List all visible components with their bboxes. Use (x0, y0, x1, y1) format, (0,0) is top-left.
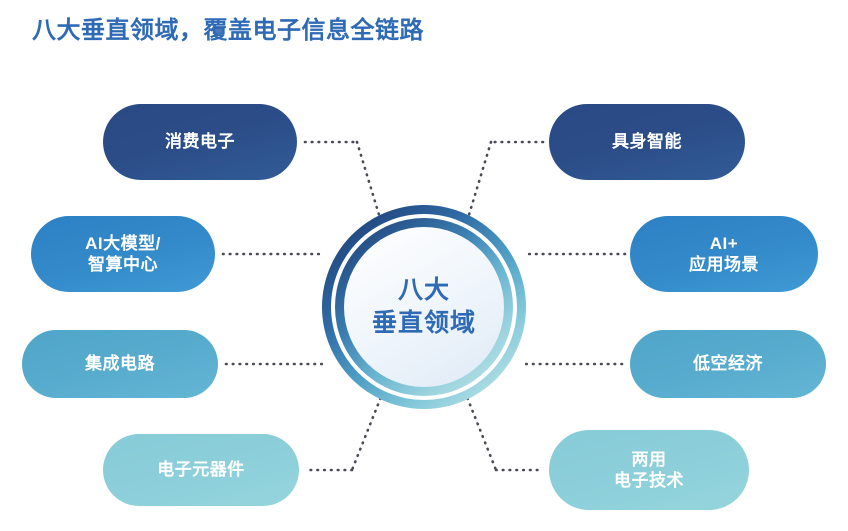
hub-label-line2: 垂直领域 (372, 309, 476, 338)
node-label-line1: 低空经济 (693, 353, 763, 374)
node-label-line1: 两用 (632, 449, 667, 470)
node-label-line2: 智算中心 (88, 254, 158, 275)
hub-circle: 八大 垂直领域 (322, 205, 526, 409)
node-label-line1: AI大模型/ (85, 233, 161, 254)
diagram-canvas: 八大垂直领域，覆盖电子信息全链路 八大 垂直领域 消费电子 (0, 0, 848, 531)
node-label-line2: 电子技术 (614, 470, 684, 491)
node-integrated-circuits[interactable]: 集成电路 (22, 330, 218, 398)
hub-label-line1: 八大 (398, 276, 450, 305)
node-label-line1: 电子元器件 (157, 459, 245, 480)
node-electronic-components[interactable]: 电子元器件 (103, 434, 299, 506)
node-label-line1: AI+ (710, 233, 738, 254)
node-ai-plus-applications[interactable]: AI+ 应用场景 (630, 216, 818, 292)
node-label-line2: 应用场景 (689, 254, 759, 275)
node-dual-use-electronics[interactable]: 两用 电子技术 (549, 430, 749, 510)
node-label-line1: 具身智能 (612, 131, 682, 152)
node-ai-large-model[interactable]: AI大模型/ 智算中心 (31, 216, 215, 292)
node-label-line1: 集成电路 (85, 353, 155, 374)
node-label-line1: 消费电子 (165, 131, 235, 152)
node-embodied-intelligence[interactable]: 具身智能 (549, 104, 745, 180)
node-consumer-electronics[interactable]: 消费电子 (103, 104, 297, 180)
page-title: 八大垂直领域，覆盖电子信息全链路 (32, 10, 424, 45)
hub-center: 八大 垂直领域 (344, 227, 504, 387)
node-low-altitude-economy[interactable]: 低空经济 (630, 330, 826, 398)
